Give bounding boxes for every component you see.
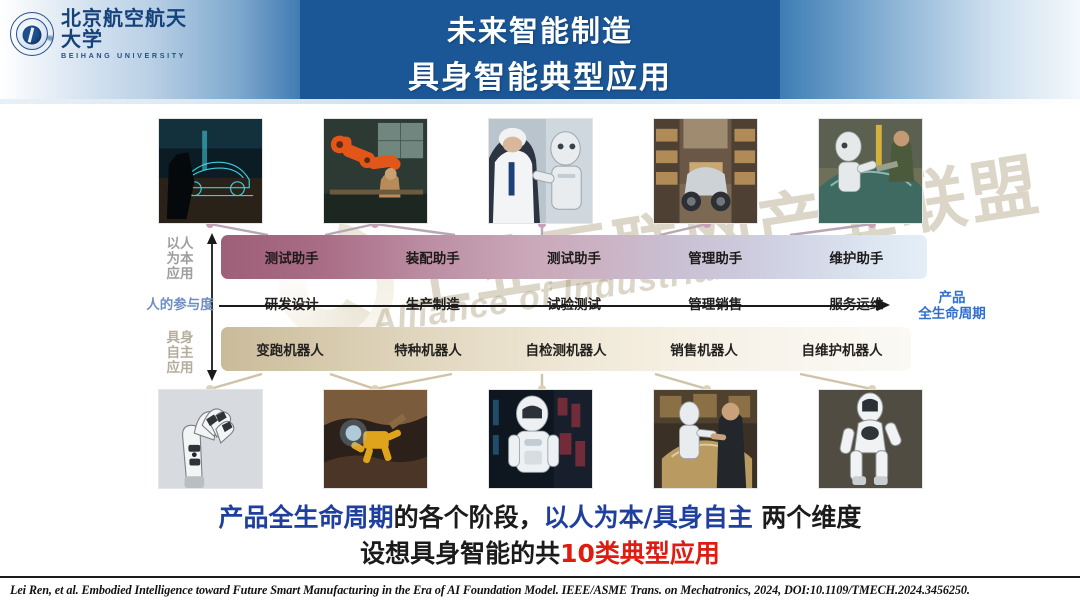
title-line-1: 未来智能制造 — [447, 8, 633, 50]
cell-human-3[interactable]: 管理助手 — [645, 247, 786, 267]
mining-rescue-robot-photo — [323, 389, 428, 489]
slide-body: 工业互联网产业联盟 Alliance of Industrial Interne… — [0, 104, 1080, 572]
conclusion-line-2: 设想具身智能的共10类典型应用 — [0, 536, 1080, 572]
cell-embodied-1[interactable]: 特种机器人 — [359, 339, 497, 359]
axis-label-embodied-autonomy: 具身 自主 应用 — [159, 331, 201, 376]
lifecycle-band: 研发设计 生产制造 试验测试 管理销售 服务运维 — [221, 283, 927, 323]
conclusion-l2-lead: 设想具身智能的共 — [360, 539, 560, 568]
page-title: 未来智能制造 具身智能典型应用 — [300, 6, 780, 98]
university-logo: 北京航空航天大学 BEIHANG UNIVERSITY — [10, 8, 195, 60]
conclusion-l1-highlight: 产品全生命周期 — [219, 503, 394, 532]
orange-robot-arm-assembly-photo — [323, 118, 428, 224]
logo-name-en: BEIHANG UNIVERSITY — [61, 51, 195, 60]
conclusion-l1-tail: 两个维度 — [753, 503, 862, 532]
holographic-car-design-photo — [158, 118, 263, 224]
cell-lifecycle-1[interactable]: 生产制造 — [362, 293, 503, 313]
robotic-hand-photo — [158, 389, 263, 489]
lifecycle-axis-line — [219, 305, 883, 307]
cell-lifecycle-3[interactable]: 管理销售 — [645, 293, 786, 313]
robot-servicing-car-photo — [818, 118, 923, 224]
conclusion-line-1: 产品全生命周期的各个阶段，以人为本/具身自主 两个维度 — [0, 500, 1080, 536]
conclusion-l1-mid: 的各个阶段， — [394, 503, 544, 532]
cell-lifecycle-2[interactable]: 试验测试 — [503, 293, 644, 313]
title-line-2: 具身智能典型应用 — [408, 52, 672, 97]
logo-name-cn: 北京航空航天大学 — [61, 8, 195, 50]
cell-embodied-3[interactable]: 销售机器人 — [635, 339, 773, 359]
sales-robot-with-customer-photo — [653, 389, 758, 489]
lifecycle-axis-arrowhead — [877, 299, 890, 311]
self-maintenance-robot-photo — [818, 389, 923, 489]
footer-divider — [0, 576, 1080, 578]
worker-with-humanoid-robot-photo — [488, 118, 593, 224]
humanoid-inspection-robot-photo — [488, 389, 593, 489]
axis-label-human-involvement: 人的参与度 — [141, 298, 219, 313]
cell-embodied-4[interactable]: 自维护机器人 — [773, 339, 911, 359]
cell-human-1[interactable]: 装配助手 — [362, 247, 503, 267]
citation-footer: Lei Ren, et al. Embodied Intelligence to… — [10, 583, 1076, 598]
axis-label-human-centric: 以人 为本 应用 — [159, 237, 201, 282]
conclusion-l1-dimensions: 以人为本/具身自主 — [544, 503, 753, 532]
embodied-band: 变跑机器人 特种机器人 自检测机器人 销售机器人 自维护机器人 — [221, 327, 911, 371]
cell-human-4[interactable]: 维护助手 — [786, 247, 927, 267]
warehouse-logistics-robot-photo — [653, 118, 758, 224]
cell-human-0[interactable]: 测试助手 — [221, 247, 362, 267]
human-centric-band: 测试助手 装配助手 测试助手 管理助手 维护助手 — [221, 235, 927, 279]
conclusion-l2-count: 10类典型应用 — [560, 539, 720, 568]
cell-embodied-2[interactable]: 自检测机器人 — [497, 339, 635, 359]
application-matrix: 以人 为本 应用 人的参与度 具身 自主 应用 测试助手 装配助手 测试助手 管… — [205, 235, 930, 380]
conclusion-text: 产品全生命周期的各个阶段，以人为本/具身自主 两个维度 设想具身智能的共10类典… — [0, 500, 1080, 571]
buaa-seal-icon — [10, 12, 54, 56]
cell-embodied-0[interactable]: 变跑机器人 — [221, 339, 359, 359]
axis-label-product-lifecycle: 产品 全生命周期 — [897, 291, 1007, 322]
cell-human-2[interactable]: 测试助手 — [503, 247, 644, 267]
cell-lifecycle-0[interactable]: 研发设计 — [221, 293, 362, 313]
